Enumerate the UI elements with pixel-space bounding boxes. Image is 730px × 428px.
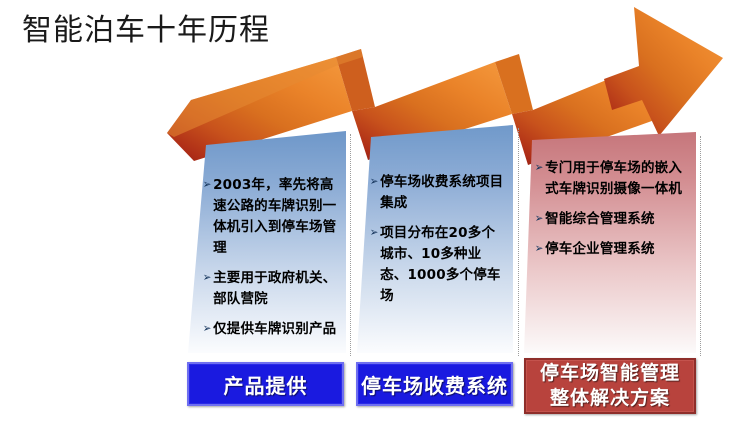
bullet-marker: ➢ xyxy=(203,175,212,194)
stage-3-banner-label-line2: 整体解决方案 xyxy=(550,386,670,411)
page-title: 智能泊车十年历程 xyxy=(22,12,270,50)
bullet-text: 仅提供车牌识别产品 xyxy=(213,319,336,340)
list-item: ➢ 2003年，率先将高速公路的车牌识别一体机引入到停车场管理 xyxy=(202,175,340,259)
column-separator-3 xyxy=(700,136,701,356)
stage-2-panel: ➢ 停车场收费系统项目集成 ➢ 项目分布在20多个城市、10多种业态、1000多… xyxy=(357,125,513,353)
bullet-text: 项目分布在20多个城市、10多种业态、1000多个停车场 xyxy=(380,223,507,307)
list-item: ➢ 停车场收费系统项目集成 xyxy=(369,172,507,214)
bullet-marker: ➢ xyxy=(535,209,544,228)
list-item: ➢ 项目分布在20多个城市、10多种业态、1000多个停车场 xyxy=(369,223,507,307)
bullet-text: 智能综合管理系统 xyxy=(545,209,655,230)
bullet-marker: ➢ xyxy=(203,319,212,338)
stage-2-banner-label: 停车场收费系统 xyxy=(361,370,508,399)
stage-1-banner-label: 产品提供 xyxy=(224,370,308,399)
bullet-text: 停车场收费系统项目集成 xyxy=(380,172,507,214)
stage-3-banner[interactable]: 停车场智能管理 整体解决方案 xyxy=(524,358,696,414)
column-separator-2 xyxy=(518,128,519,356)
bullet-marker: ➢ xyxy=(535,239,544,258)
bullet-marker: ➢ xyxy=(370,223,379,242)
stage-1-panel: ➢ 2003年，率先将高速公路的车牌识别一体机引入到停车场管理 ➢ 主要用于政府… xyxy=(188,131,346,353)
stage-2-banner[interactable]: 停车场收费系统 xyxy=(356,362,513,406)
list-item: ➢ 智能综合管理系统 xyxy=(534,209,690,230)
stage-3-banner-label-line1: 停车场智能管理 xyxy=(540,361,680,386)
stage-3-panel: ➢ 专门用于停车场的嵌入式车牌识别摄像一体机 ➢ 智能综合管理系统 ➢ 停车企业… xyxy=(524,132,696,353)
stage-1-banner[interactable]: 产品提供 xyxy=(187,362,344,406)
list-item: ➢ 专门用于停车场的嵌入式车牌识别摄像一体机 xyxy=(534,158,690,200)
bullet-text: 主要用于政府机关、部队营院 xyxy=(213,268,340,310)
list-item: ➢ 停车企业管理系统 xyxy=(534,239,690,260)
bullet-marker: ➢ xyxy=(535,158,544,177)
list-item: ➢ 仅提供车牌识别产品 xyxy=(202,319,340,340)
bullet-marker: ➢ xyxy=(370,172,379,191)
column-separator-1 xyxy=(350,134,351,356)
bullet-text: 2003年，率先将高速公路的车牌识别一体机引入到停车场管理 xyxy=(213,175,340,259)
slide-canvas: 智能泊车十年历程 xyxy=(0,0,730,428)
bullet-marker: ➢ xyxy=(203,268,212,287)
list-item: ➢ 主要用于政府机关、部队营院 xyxy=(202,268,340,310)
bullet-text: 停车企业管理系统 xyxy=(545,239,655,260)
bullet-text: 专门用于停车场的嵌入式车牌识别摄像一体机 xyxy=(545,158,690,200)
